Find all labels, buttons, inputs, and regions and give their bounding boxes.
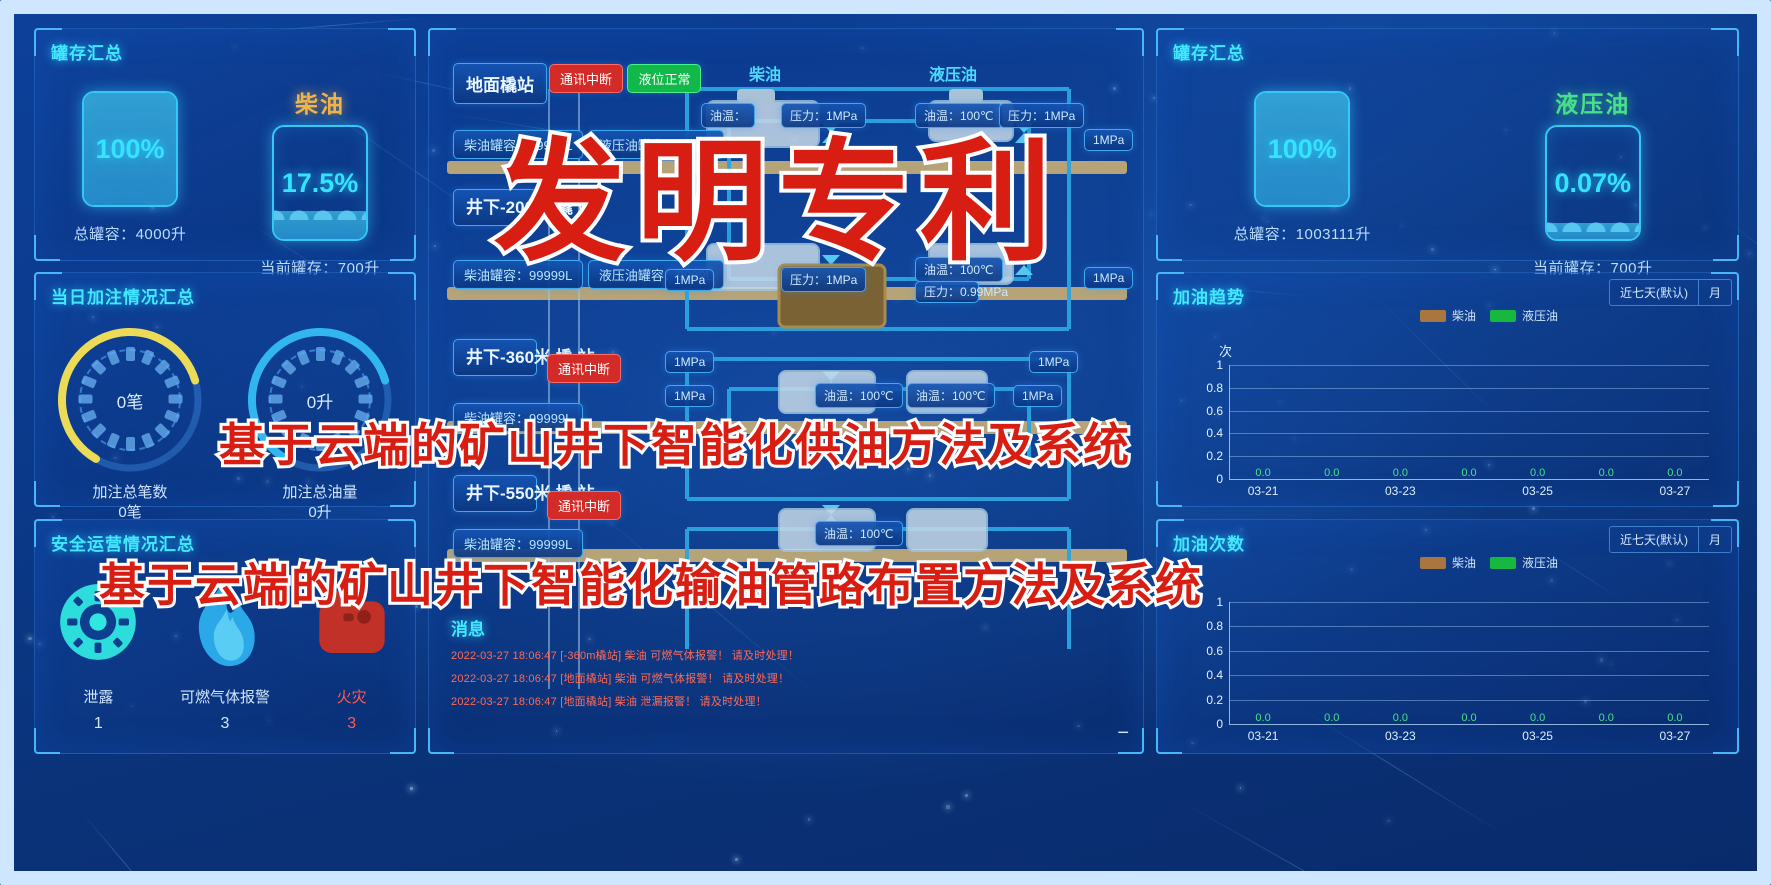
point-label: 0.0	[1667, 712, 1682, 724]
point-label: 0.0	[1255, 467, 1270, 479]
star	[735, 858, 738, 861]
legend-swatch-diesel	[1420, 310, 1446, 322]
gridline	[1229, 433, 1709, 434]
oil-type-label: 液压油	[1555, 85, 1630, 119]
star	[808, 818, 810, 820]
legend-swatch-diesel	[1420, 557, 1446, 569]
y-tick-label: 0.6	[1206, 404, 1223, 418]
y-tick-label: 0.8	[1206, 381, 1223, 395]
tank-card-total: 100% 总罐容：4000升	[35, 85, 225, 278]
dashboard-screen: 罐存汇总 100% 总罐容：4000升 柴油	[14, 14, 1757, 871]
tank-capacity-label: 总罐容：1003111升	[1234, 223, 1371, 244]
gauge-label-line1: 加注总油量	[245, 483, 395, 503]
point-label: 0.0	[1599, 712, 1614, 724]
tank-gauge: 17.5%	[272, 125, 368, 241]
tank-percent: 17.5%	[274, 127, 366, 239]
point-label: 0.0	[1461, 712, 1476, 724]
period-button-month[interactable]: 月	[1699, 526, 1732, 553]
legend-label-hydraulic: 液压油	[1522, 554, 1558, 571]
x-tick-label: 03-25	[1522, 729, 1553, 743]
gridline	[1229, 724, 1709, 725]
safety-label: 火灾	[297, 686, 407, 707]
gridline	[1229, 456, 1709, 457]
gauge-label: 加注总笔数 0笔	[55, 483, 205, 524]
count-plot-area: 1 0.8 0.6 0.4 0.2 0 0.0 0.0 0.0 0.0 0.0 …	[1229, 602, 1709, 724]
legend-label-diesel: 柴油	[1452, 307, 1476, 324]
panel-title: 罐存汇总	[1173, 39, 1245, 64]
legend-swatch-hydraulic	[1490, 557, 1516, 569]
left-tank-summary-panel: 罐存汇总 100% 总罐容：4000升 柴油	[34, 28, 416, 261]
diagram-label-diesel: 柴油	[749, 61, 781, 85]
station-name[interactable]: 井下-360米 橇 站	[453, 339, 537, 376]
status-badge-comm: 通讯中断	[547, 491, 621, 520]
tank-capacity-label: 总罐容：4000升	[74, 223, 187, 244]
count-period-selector[interactable]: 近七天(默认) 月	[1609, 526, 1732, 553]
meter-chip: 1MPa	[1013, 385, 1062, 407]
right-tank-summary-panel: 罐存汇总 100% 总罐容：1003111升 液压油	[1156, 28, 1739, 261]
status-badge-level: 液位正常	[627, 64, 701, 93]
star	[52, 516, 54, 518]
point-label: 0.0	[1255, 712, 1270, 724]
safety-value: 1	[43, 715, 153, 733]
y-tick-label: 0.4	[1206, 668, 1223, 682]
station-status-360m: 通讯中断	[547, 354, 621, 383]
tank-card-hydraulic: 液压油 0.07% 当前罐存：700升	[1448, 85, 1739, 278]
light-streak	[81, 811, 165, 871]
message-log: 消息 2022-03-27 18:06:47 [-360m橇站] 柴油 可燃气体…	[451, 615, 1121, 709]
period-button-month[interactable]: 月	[1699, 279, 1732, 306]
gridline	[1229, 700, 1709, 701]
legend-item-diesel[interactable]: 柴油	[1420, 307, 1476, 324]
refuel-trend-chart-panel: 加油趋势 近七天(默认) 月 柴油 液压油 次	[1156, 272, 1739, 507]
x-tick-label: 03-23	[1385, 729, 1416, 743]
tank-gauge: 100%	[82, 91, 178, 207]
y-tick-label: 0	[1216, 472, 1223, 486]
point-label: 0.0	[1599, 467, 1614, 479]
x-tick-label: 03-25	[1522, 484, 1553, 498]
star	[410, 787, 413, 790]
gauge-refuel-count: 0笔 加注总笔数 0笔	[55, 325, 205, 475]
legend-label-diesel: 柴油	[1452, 554, 1476, 571]
diagram-label-hydraulic: 液压油	[929, 61, 977, 85]
tank-percent: 0.07%	[1547, 127, 1639, 239]
count-y-axis	[1229, 602, 1230, 724]
gridline	[1229, 602, 1709, 603]
tank-card-total: 100% 总罐容：1003111升	[1157, 85, 1448, 278]
meter-chip: 1MPa	[665, 351, 714, 373]
safety-value: 3	[297, 715, 407, 733]
x-tick-label: 03-21	[1248, 729, 1279, 743]
trend-y-axis	[1229, 365, 1230, 479]
watermark-line-2: 基于云端的矿山井下智能化输油管路布置方法及系统	[99, 549, 1203, 615]
x-tick-label: 03-27	[1660, 484, 1691, 498]
star	[965, 794, 968, 797]
legend-label-hydraulic: 液压油	[1522, 307, 1558, 324]
point-label: 0.0	[1393, 712, 1408, 724]
y-tick-label: 1	[1216, 358, 1223, 372]
meter-chip: 油温：100℃	[815, 521, 903, 546]
star	[1532, 507, 1535, 510]
y-tick-label: 0.2	[1206, 449, 1223, 463]
light-streak	[1179, 800, 1448, 871]
station-card-550m: 井下-550米 橇 站	[453, 475, 537, 512]
station-status-group-ground: 通讯中断 液位正常	[549, 57, 701, 93]
gridline	[1229, 388, 1709, 389]
legend-item-diesel[interactable]: 柴油	[1420, 554, 1476, 571]
gridline	[1229, 651, 1709, 652]
star	[1151, 214, 1152, 215]
legend-item-hydraulic[interactable]: 液压油	[1490, 307, 1558, 324]
safety-value: 3	[170, 715, 280, 733]
message-log-title: 消息	[451, 615, 1121, 640]
panel-title: 加油趋势	[1173, 283, 1245, 308]
legend-item-hydraulic[interactable]: 液压油	[1490, 554, 1558, 571]
y-tick-label: 0	[1216, 717, 1223, 731]
star	[1387, 820, 1390, 823]
refuel-count-chart-panel: 加油次数 近七天(默认) 月 柴油 液压油	[1156, 519, 1739, 754]
tank-gauge: 0.07%	[1545, 125, 1641, 241]
meter-chip: 油温：100℃	[907, 383, 995, 408]
gridline	[1229, 411, 1709, 412]
meter-chip: 1MPa	[1084, 267, 1133, 289]
x-tick-label: 03-21	[1248, 484, 1279, 498]
meter-chip: 1MPa	[665, 385, 714, 407]
gauge-label-line1: 加注总笔数	[55, 483, 205, 503]
star	[1153, 97, 1155, 99]
trend-plot-area: 1 0.8 0.6 0.4 0.2 0 0.0 0.0 0.0 0.0 0.0 …	[1229, 365, 1709, 479]
gridline	[1229, 675, 1709, 676]
point-label: 0.0	[1667, 467, 1682, 479]
x-tick-label: 03-27	[1660, 729, 1691, 743]
tank-percent: 100%	[84, 93, 176, 205]
gridline	[1229, 626, 1709, 627]
star	[1240, 787, 1242, 789]
safety-label: 泄露	[43, 686, 153, 707]
point-label: 0.0	[1324, 467, 1339, 479]
gridline	[1229, 479, 1709, 480]
tank-percent: 100%	[1256, 93, 1348, 205]
gridline	[1229, 365, 1709, 366]
safety-label: 可燃气体报警	[170, 686, 280, 707]
dashboard-root: 罐存汇总 100% 总罐容：4000升 柴油	[0, 0, 1771, 885]
count-legend: 柴油 液压油	[1420, 554, 1558, 571]
gauge-value: 0笔	[55, 325, 205, 475]
y-tick-label: 1	[1216, 595, 1223, 609]
legend-swatch-hydraulic	[1490, 310, 1516, 322]
x-tick-label: 03-23	[1385, 484, 1416, 498]
y-tick-label: 0.2	[1206, 693, 1223, 707]
y-tick-label: 0.4	[1206, 426, 1223, 440]
tank-card-diesel: 柴油 17.5% 当前罐存：700升	[225, 85, 415, 278]
status-badge-comm: 通讯中断	[549, 64, 623, 93]
point-label: 0.0	[1393, 467, 1408, 479]
panel-title: 当日加注情况汇总	[51, 283, 195, 308]
y-tick-label: 0.8	[1206, 619, 1223, 633]
meter-chip: 1MPa	[1084, 129, 1133, 151]
watermark-patent-title: 发明专利	[494, 96, 1062, 287]
point-label: 0.0	[1530, 467, 1545, 479]
period-button-week[interactable]: 近七天(默认)	[1609, 526, 1699, 553]
watermark-line-1: 基于云端的矿山井下智能化供油方法及系统	[219, 409, 1131, 475]
station-status-550m: 通讯中断	[547, 491, 621, 520]
star	[946, 805, 949, 808]
station-card-360m: 井下-360米 橇 站	[453, 339, 537, 376]
message-line: 2022-03-27 18:06:47 [地面橇站] 柴油 泄漏报警！ 请及时处…	[451, 693, 1121, 709]
zoom-out-button[interactable]: −	[1117, 722, 1129, 745]
y-tick-label: 0.6	[1206, 644, 1223, 658]
status-badge-comm: 通讯中断	[547, 354, 621, 383]
point-label: 0.0	[1461, 467, 1476, 479]
station-name[interactable]: 井下-550米 橇 站	[453, 475, 537, 512]
tank-gauge: 100%	[1254, 91, 1350, 207]
point-label: 0.0	[1324, 712, 1339, 724]
panel-title: 罐存汇总	[51, 39, 123, 64]
message-line: 2022-03-27 18:06:47 [地面橇站] 柴油 可燃气体报警！ 请及…	[451, 670, 1121, 686]
point-label: 0.0	[1530, 712, 1545, 724]
trend-period-selector[interactable]: 近七天(默认) 月	[1609, 279, 1732, 306]
gauge-label: 加注总油量 0升	[245, 483, 395, 524]
message-line: 2022-03-27 18:06:47 [-360m橇站] 柴油 可燃气体报警！…	[451, 647, 1121, 663]
trend-legend: 柴油 液压油	[1420, 307, 1558, 324]
oil-type-label: 柴油	[295, 85, 345, 119]
meter-chip: 油温：100℃	[815, 383, 903, 408]
star	[28, 637, 31, 640]
period-button-week[interactable]: 近七天(默认)	[1609, 279, 1699, 306]
star	[1749, 253, 1750, 254]
meter-chip: 1MPa	[1029, 351, 1078, 373]
